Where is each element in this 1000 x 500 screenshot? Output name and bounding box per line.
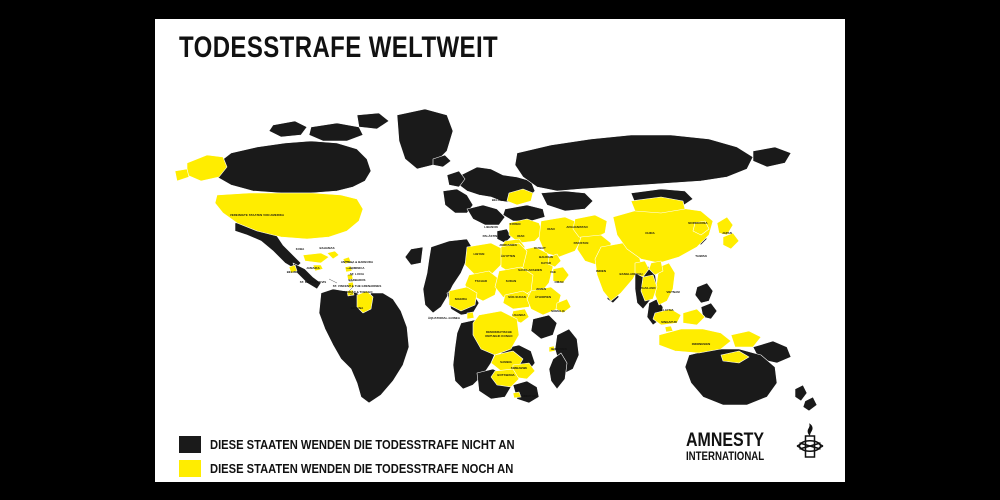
poster-card: TODESSTRAFE WELTWEIT xyxy=(155,19,845,482)
country-label: JAPAN xyxy=(722,231,732,235)
country-label: ST. VINCENT & THE GRENADINES xyxy=(333,284,382,288)
country-label: SINGAPUR xyxy=(661,320,678,324)
country-label: LESOTHO xyxy=(522,394,537,398)
country-label: GUYANA xyxy=(351,306,364,310)
poster-frame: TODESSTRAFE WELTWEIT xyxy=(0,0,1000,500)
country-label: KUWAIT xyxy=(534,246,546,250)
legend-row-retentionist: DIESE STAATEN WENDEN DIE TODESSTRAFE NOC… xyxy=(179,458,564,479)
amnesty-logo-lockup: AMNESTY INTERNATIONAL xyxy=(686,422,827,464)
page-title: TODESSTRAFE WELTWEIT xyxy=(179,33,498,63)
legend-swatch-yellow xyxy=(179,460,201,477)
country-label: IRAN xyxy=(547,227,554,231)
legend-row-abolitionist: DIESE STAATEN WENDEN DIE TODESSTRAFE NIC… xyxy=(179,434,564,455)
country-label: BELARUS xyxy=(492,198,506,202)
country-label: JEMEN xyxy=(536,287,546,291)
candle-barbed-wire-icon xyxy=(793,422,827,464)
country-label: VIETNAM xyxy=(666,290,680,294)
legend-swatch-black xyxy=(179,436,201,453)
country-label: BAHAMAS xyxy=(319,246,334,250)
country-label: SAUDI-ARABIEN xyxy=(518,268,542,272)
country-label: JAMAIKA xyxy=(306,266,320,270)
country-label: KOMOREN xyxy=(551,347,566,351)
country-label: NORDKOREA xyxy=(688,221,708,225)
country-label: TRINIDAD & TOBAGO xyxy=(342,290,374,294)
country-label: SAMBIA xyxy=(500,360,513,364)
country-label: IRAK xyxy=(517,234,525,238)
country-label: SÜD-SUDAN xyxy=(508,295,526,299)
amnesty-name: AMNESTY xyxy=(686,431,764,450)
country-label: LIBYEN xyxy=(474,252,485,256)
amnesty-international-line: INTERNATIONAL xyxy=(686,450,764,464)
country-label: KATAR xyxy=(541,261,552,265)
country-label: TAIWAN xyxy=(695,254,707,258)
country-label: BAHRAIN xyxy=(539,255,553,259)
country-label: PAKISTAN xyxy=(574,241,589,245)
country-label: BELIZE xyxy=(287,270,298,274)
country-label: BOTSWANA xyxy=(497,373,515,377)
country-label: CHINA xyxy=(645,231,655,235)
country-label: UGANDA xyxy=(513,313,527,317)
country-label: ÄQUATORIAL-GUINEA xyxy=(428,316,461,320)
country-label: KUBA xyxy=(296,247,305,251)
country-label: JORDANIEN xyxy=(499,243,516,247)
country-label: BARBADOS xyxy=(348,278,365,282)
country-label: MALAYSIA xyxy=(658,308,674,312)
country-label: AFGHANISTAN xyxy=(566,225,587,229)
amnesty-wordmark: AMNESTY INTERNATIONAL xyxy=(686,431,779,464)
country-label: OMAN xyxy=(554,280,563,284)
country-label: SYRIEN xyxy=(509,222,520,226)
country-label: ST. KITTS & NEVIS xyxy=(300,280,327,284)
country-label: INDONESIEN xyxy=(692,342,711,346)
country-label: TSCHAD xyxy=(475,279,487,283)
country-label: PALÄSTINA xyxy=(483,234,501,238)
country-label: ANTIGUA & BARBUDA xyxy=(341,260,374,264)
country-label: ÄGYPTEN xyxy=(501,254,515,258)
country-label: VAE xyxy=(550,270,556,274)
country-label: LIBANON xyxy=(484,225,498,229)
country-label: SIMBABWE xyxy=(511,366,527,370)
country-label: INDIEN xyxy=(596,269,606,273)
country-label: ST. LUCIA xyxy=(350,272,365,276)
country-label: ÄTHIOPIEN xyxy=(535,295,551,299)
country-label: DOMINICA xyxy=(349,266,365,270)
legend-label-abolitionist: DIESE STAATEN WENDEN DIE TODESSTRAFE NIC… xyxy=(210,437,515,452)
country-label: NIGERIA xyxy=(455,297,468,301)
world-map-svg: VEREINIGTE STAATEN VON AMERIKAKUBABAHAMA… xyxy=(161,97,839,417)
country-label: THAILAND xyxy=(640,286,655,290)
legend: DIESE STAATEN WENDEN DIE TODESSTRAFE NIC… xyxy=(179,434,564,482)
country-label: SOMALIA xyxy=(551,309,566,313)
world-map: VEREINIGTE STAATEN VON AMERIKAKUBABAHAMA… xyxy=(161,97,839,417)
country-label: REPUBLIK KONGO xyxy=(485,334,513,338)
legend-label-retentionist: DIESE STAATEN WENDEN DIE TODESSTRAFE NOC… xyxy=(210,461,513,476)
country-label: BANGLADESCH xyxy=(619,272,642,276)
country-label: SUDAN xyxy=(506,279,517,283)
country-label: VEREINIGTE STAATEN VON AMERIKA xyxy=(230,213,285,217)
